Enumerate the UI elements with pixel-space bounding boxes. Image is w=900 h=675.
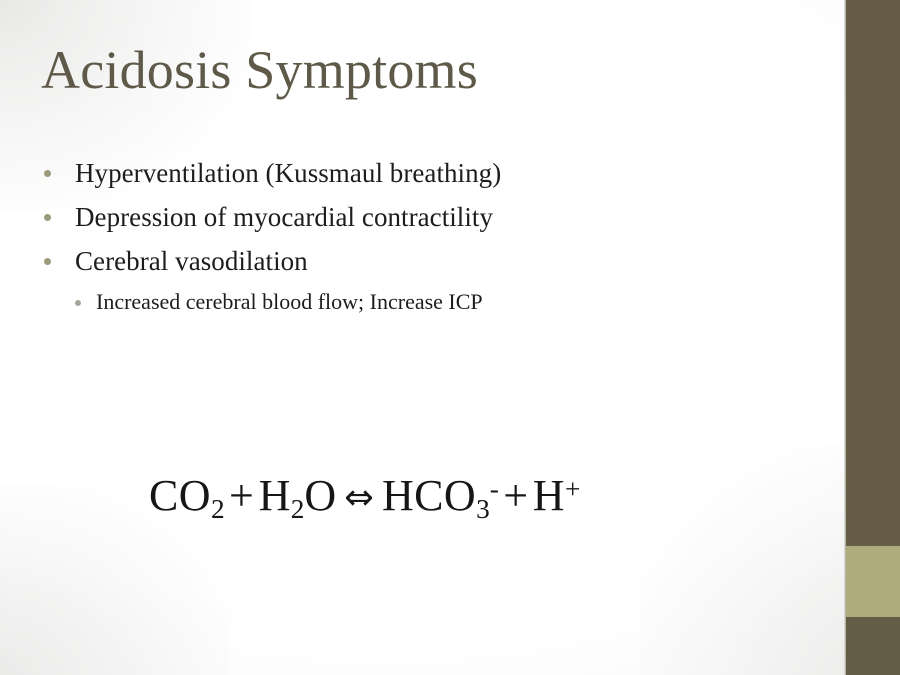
equation-co2-subscript: 2 (211, 494, 225, 524)
equation-hco3-symbol: HCO (382, 471, 476, 520)
sidebar-band-dark-bottom (846, 617, 900, 675)
list-item: Cerebral vasodilation (44, 244, 784, 279)
sidebar-band-khaki (846, 546, 900, 617)
list-item: Depression of myocardial contractility (44, 200, 784, 235)
presentation-slide: Acidosis Symptoms Hyperventilation (Kuss… (0, 0, 900, 675)
equation-h2o-oxygen: O (304, 471, 336, 520)
bullet-dot-icon (44, 214, 51, 221)
equation-plus-1: + (229, 471, 254, 520)
equation-hco3-charge: - (490, 474, 499, 504)
bullet-text: Depression of myocardial contractility (75, 200, 493, 235)
bullet-text: Hyperventilation (Kussmaul breathing) (75, 156, 501, 191)
bullet-dot-icon (44, 170, 51, 177)
sub-list-item: Increased cerebral blood flow; Increase … (75, 288, 784, 316)
list-item: Hyperventilation (Kussmaul breathing) (44, 156, 784, 191)
bullet-text: Cerebral vasodilation (75, 244, 308, 279)
equation-h2o-subscript: 2 (291, 494, 305, 524)
chemical-equation: CO2+H2O⇔HCO3-+H+ (149, 472, 580, 524)
sidebar-band-dark-top (846, 0, 900, 546)
equation-hydrogen-symbol: H (533, 471, 565, 520)
decorative-sidebar (844, 0, 900, 675)
equation-co2-symbol: CO (149, 471, 211, 520)
bullet-list: Hyperventilation (Kussmaul breathing) De… (44, 156, 784, 316)
sub-bullet-text: Increased cerebral blood flow; Increase … (96, 288, 483, 316)
equation-hco3-subscript: 3 (476, 494, 490, 524)
bullet-dot-icon (44, 258, 51, 265)
equation-hydrogen-charge: + (565, 474, 580, 504)
equation-plus-2: + (503, 471, 528, 520)
slide-title: Acidosis Symptoms (41, 42, 478, 99)
sub-bullet-dot-icon (75, 300, 81, 306)
equilibrium-arrow-icon: ⇔ (344, 479, 374, 518)
equation-h2o-symbol: H (259, 471, 291, 520)
slide-canvas (0, 0, 846, 675)
